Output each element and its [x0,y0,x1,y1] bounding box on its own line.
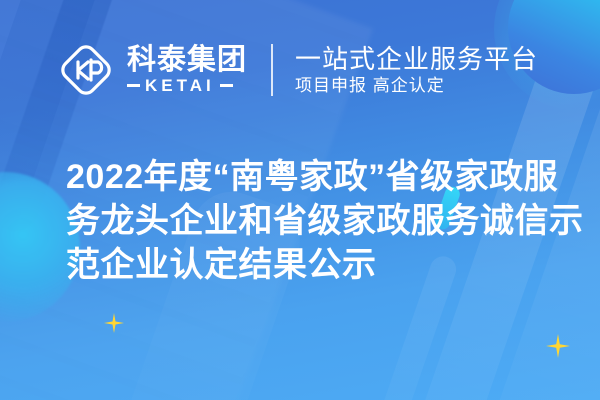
title-line-2: 务龙头企业和省级家政服务诚信示 [66,199,546,243]
tagline-block: 一站式企业服务平台 项目申报 高企认定 [295,46,538,94]
brand-rule-left-icon [127,84,140,87]
brand-name-en: KETAI [145,77,215,94]
sparkle-star-icon-right [546,334,570,358]
banner-header: 科泰集团 KETAI 一站式企业服务平台 项目申报 高企认定 [0,0,600,140]
banner-title: 2022年度“南粤家政”省级家政服 务龙头企业和省级家政服务诚信示 范企业认定结… [66,155,546,287]
title-line-1: 2022年度“南粤家政”省级家政服 [66,155,546,199]
brand-words: 科泰集团 KETAI [127,46,247,94]
sparkle-star-icon-left [104,313,124,333]
promo-banner: 科泰集团 KETAI 一站式企业服务平台 项目申报 高企认定 2022年度“南粤… [0,0,600,400]
title-line-3: 范企业认定结果公示 [66,243,546,287]
brand-rule-right-icon [220,84,233,87]
header-divider [271,44,273,96]
ketai-diamond-kp-logo-icon [58,42,114,98]
tagline-sub: 项目申报 高企认定 [295,77,538,94]
tagline-main: 一站式企业服务平台 [295,46,538,72]
brand-lockup: 科泰集团 KETAI [58,42,247,98]
brand-name-cn: 科泰集团 [127,46,247,75]
brand-name-en-row: KETAI [127,77,247,94]
